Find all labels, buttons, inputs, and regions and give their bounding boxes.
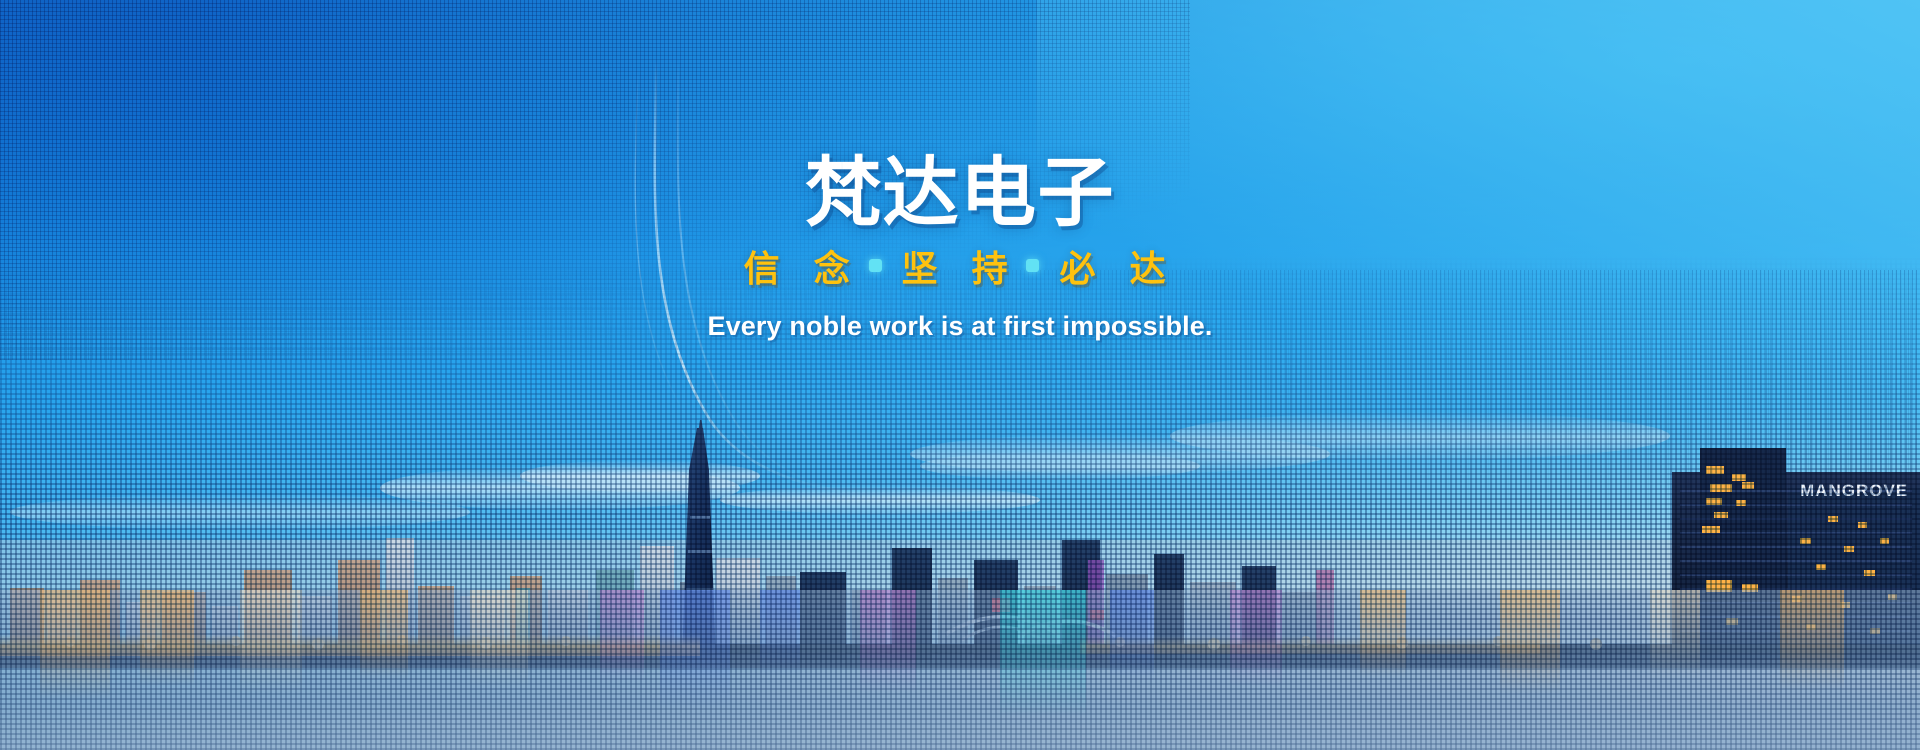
hero-banner: MANGROVE [0,0,1920,750]
halftone-mesh-diagonal [576,270,1920,570]
